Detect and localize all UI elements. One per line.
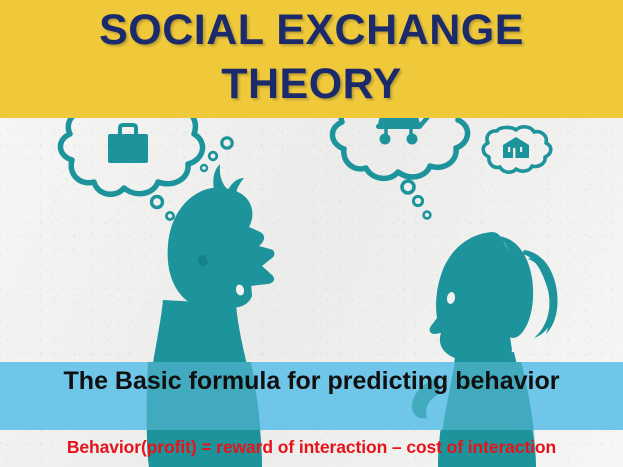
page-title: SOCIAL EXCHANGE THEORY	[0, 3, 623, 111]
thought-bubble-house	[483, 127, 551, 172]
formula: Behavior(profit) = reward of interaction…	[6, 436, 617, 458]
house-icon	[503, 137, 529, 158]
thought-dots-stray	[201, 138, 232, 171]
slide-canvas: SOCIAL EXCHANGE THEORY The Basic formula…	[0, 0, 623, 467]
briefcase-icon	[108, 125, 148, 163]
thought-dots-left	[152, 197, 174, 220]
subtitle: The Basic formula for predicting behavio…	[40, 366, 583, 396]
female-silhouette	[430, 232, 558, 467]
thought-dots-center	[402, 181, 430, 218]
